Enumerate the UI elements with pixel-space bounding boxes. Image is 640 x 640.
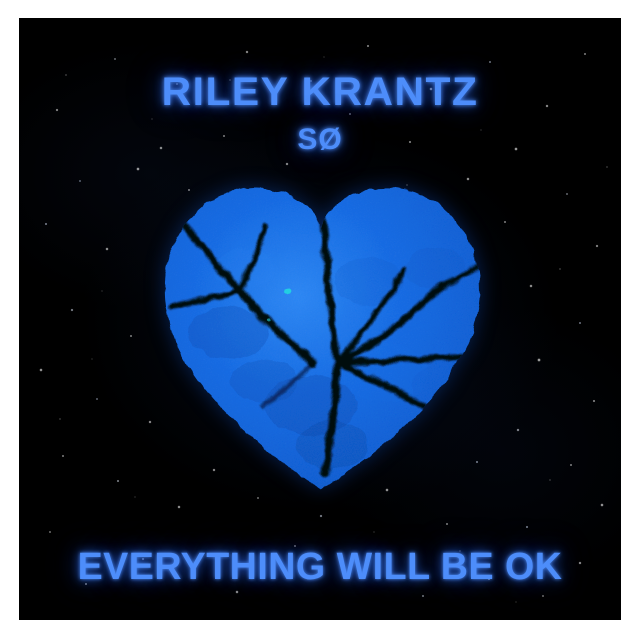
album-cover: RILEY KRANTZ SØ [0, 0, 640, 640]
album-title: EVERYTHING WILL BE OK [22, 546, 618, 589]
artist-name: RILEY KRANTZ [19, 70, 621, 115]
cracked-heart-icon [136, 173, 506, 493]
cracked-heart-artwork [136, 173, 506, 493]
track-label: SØ [19, 123, 621, 157]
cyan-speck [285, 288, 292, 295]
artwork-panel: RILEY KRANTZ SØ [19, 18, 621, 620]
